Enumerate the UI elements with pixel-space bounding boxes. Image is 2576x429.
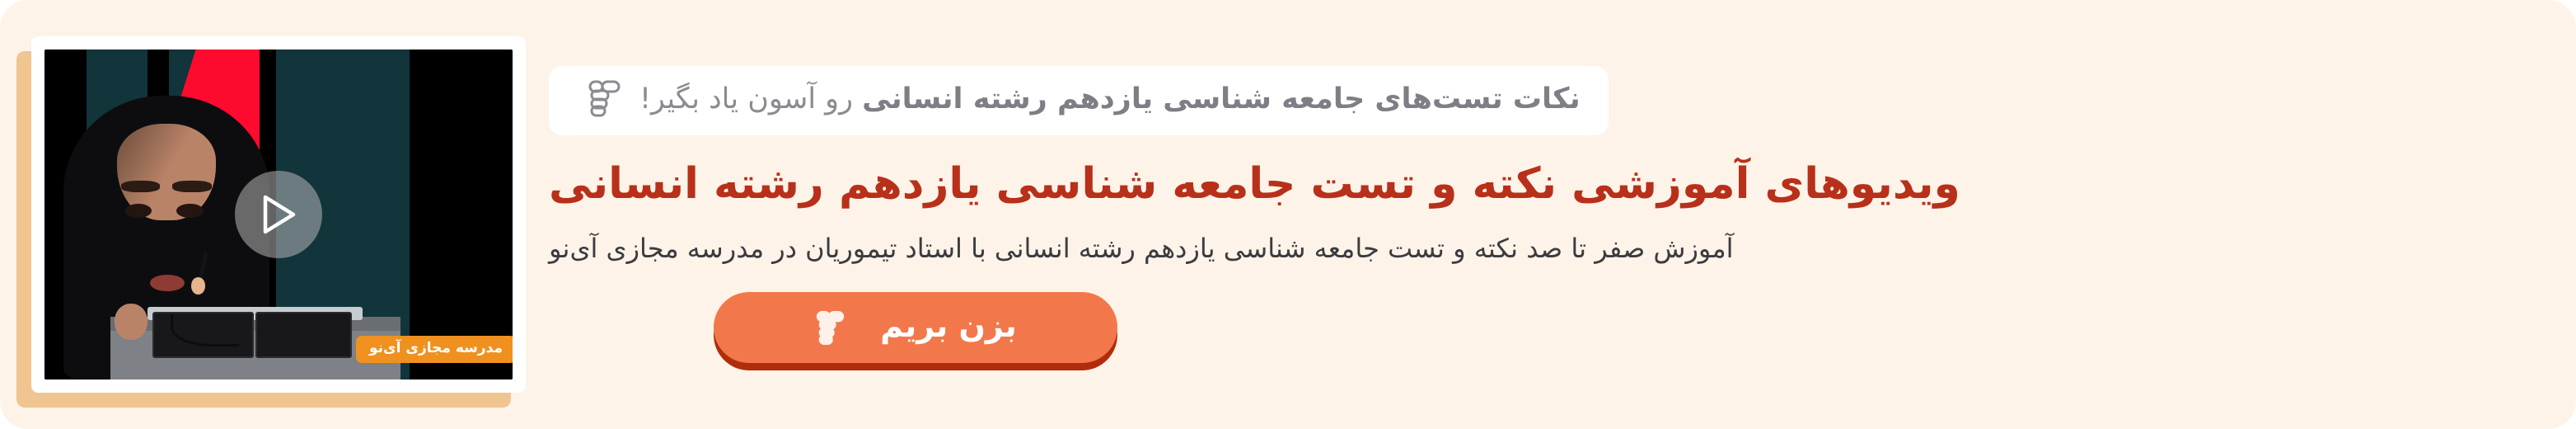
stage-bar	[410, 49, 513, 379]
presenter-microphone	[191, 277, 205, 295]
promo-banner: مدرسه مجازی آی‌نو نکات تست‌های جامعه شنا…	[0, 0, 2576, 429]
eyebrow-badge: نکات تست‌های جامعه شناسی یازدهم رشته انس…	[549, 66, 1609, 135]
presenter-brow	[121, 181, 160, 192]
cta-button-label: بزن بریم	[880, 310, 1017, 345]
banner-content: نکات تست‌های جامعه شناسی یازدهم رشته انس…	[549, 0, 2576, 429]
presenter-hand	[115, 304, 148, 340]
video-watermark-badge: مدرسه مجازی آی‌نو	[356, 336, 513, 363]
page-title: ویدیوهای آموزشی نکته و تست جامعه شناسی ی…	[549, 157, 1960, 213]
eyebrow-label: نکات تست‌های جامعه شناسی یازدهم رشته انس…	[639, 80, 1581, 119]
megaphone-icon	[587, 79, 621, 120]
eyebrow-label-regular: رو آسون یاد بگیر!	[639, 82, 862, 115]
megaphone-icon	[814, 309, 847, 346]
video-card-frame: مدرسه مجازی آی‌نو	[31, 36, 526, 393]
play-icon[interactable]	[235, 171, 322, 258]
monitor	[255, 312, 353, 358]
video-card[interactable]: مدرسه مجازی آی‌نو	[31, 36, 526, 393]
subtitle: آموزش صفر تا صد نکته و تست جامعه شناسی ی…	[549, 230, 1733, 267]
video-thumbnail[interactable]: مدرسه مجازی آی‌نو	[44, 49, 513, 379]
presenter-brow	[172, 181, 211, 192]
presenter-eye	[176, 204, 203, 218]
eyebrow-label-bold: نکات تست‌های جامعه شناسی یازدهم رشته انس…	[862, 82, 1581, 115]
cta-button[interactable]: بزن بریم	[714, 292, 1117, 363]
presenter-eye	[125, 204, 152, 218]
cta-row: بزن بریم	[549, 292, 2502, 363]
